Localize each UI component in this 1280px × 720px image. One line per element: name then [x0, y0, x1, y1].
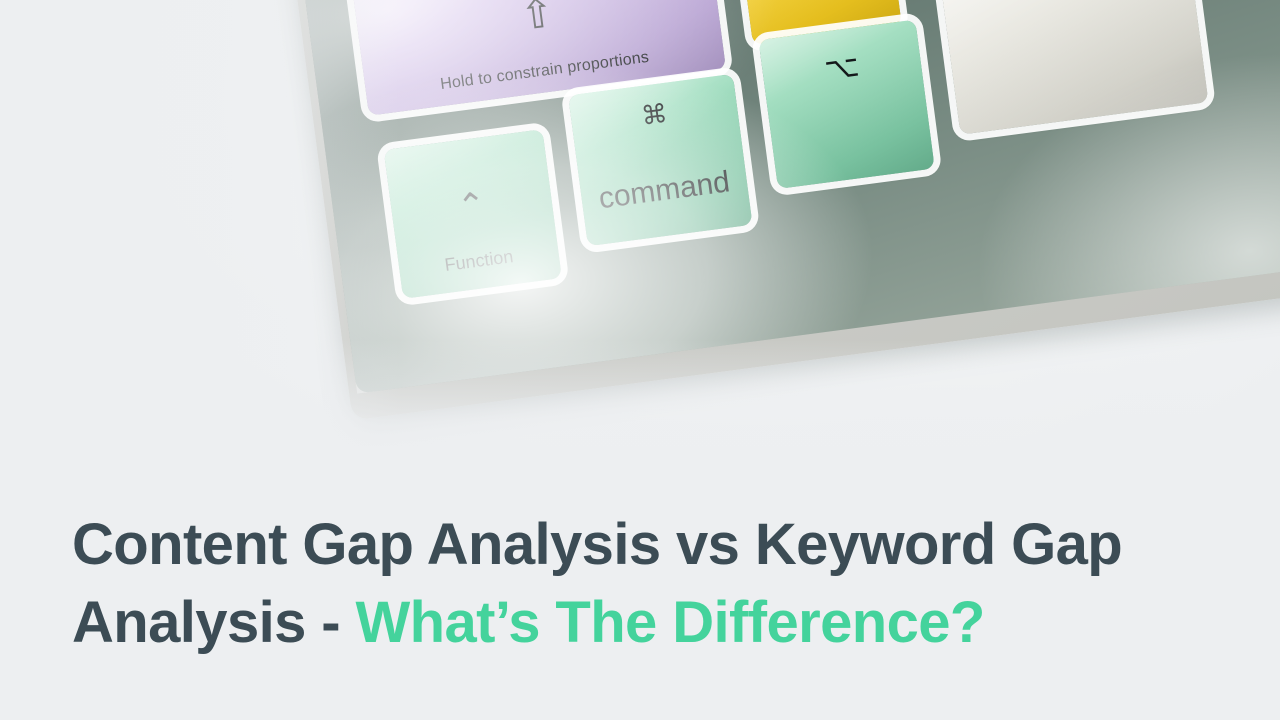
control-caret-icon: ⌃: [390, 177, 554, 236]
option-icon: ⌥: [761, 41, 922, 95]
key-gloss: [941, 0, 1208, 135]
key-function-label: Function: [398, 240, 559, 281]
hero-image: ⇧ Hold to constrain proportions Z⚲ Undo/…: [0, 0, 1280, 490]
key-space: [941, 0, 1208, 135]
title-highlight: What’s The Difference?: [356, 590, 985, 655]
page-title: Content Gap Analysis vs Keyword Gap Anal…: [72, 506, 1172, 662]
command-icon: ⌘: [570, 90, 738, 141]
title-line-2: Analysis - What’s The Difference?: [72, 584, 1172, 662]
title-line-2-prefix: Analysis -: [72, 590, 356, 655]
slide-canvas: ⇧ Hold to constrain proportions Z⚲ Undo/…: [0, 0, 1280, 720]
title-line-1: Content Gap Analysis vs Keyword Gap: [72, 506, 1172, 584]
key-redo-label: Redo: [745, 0, 896, 7]
key-function: ⌃ Function: [384, 129, 562, 299]
key-command: ⌘ command: [568, 74, 752, 246]
key-option: ⌥: [759, 20, 935, 189]
key-command-label: command: [580, 164, 749, 219]
